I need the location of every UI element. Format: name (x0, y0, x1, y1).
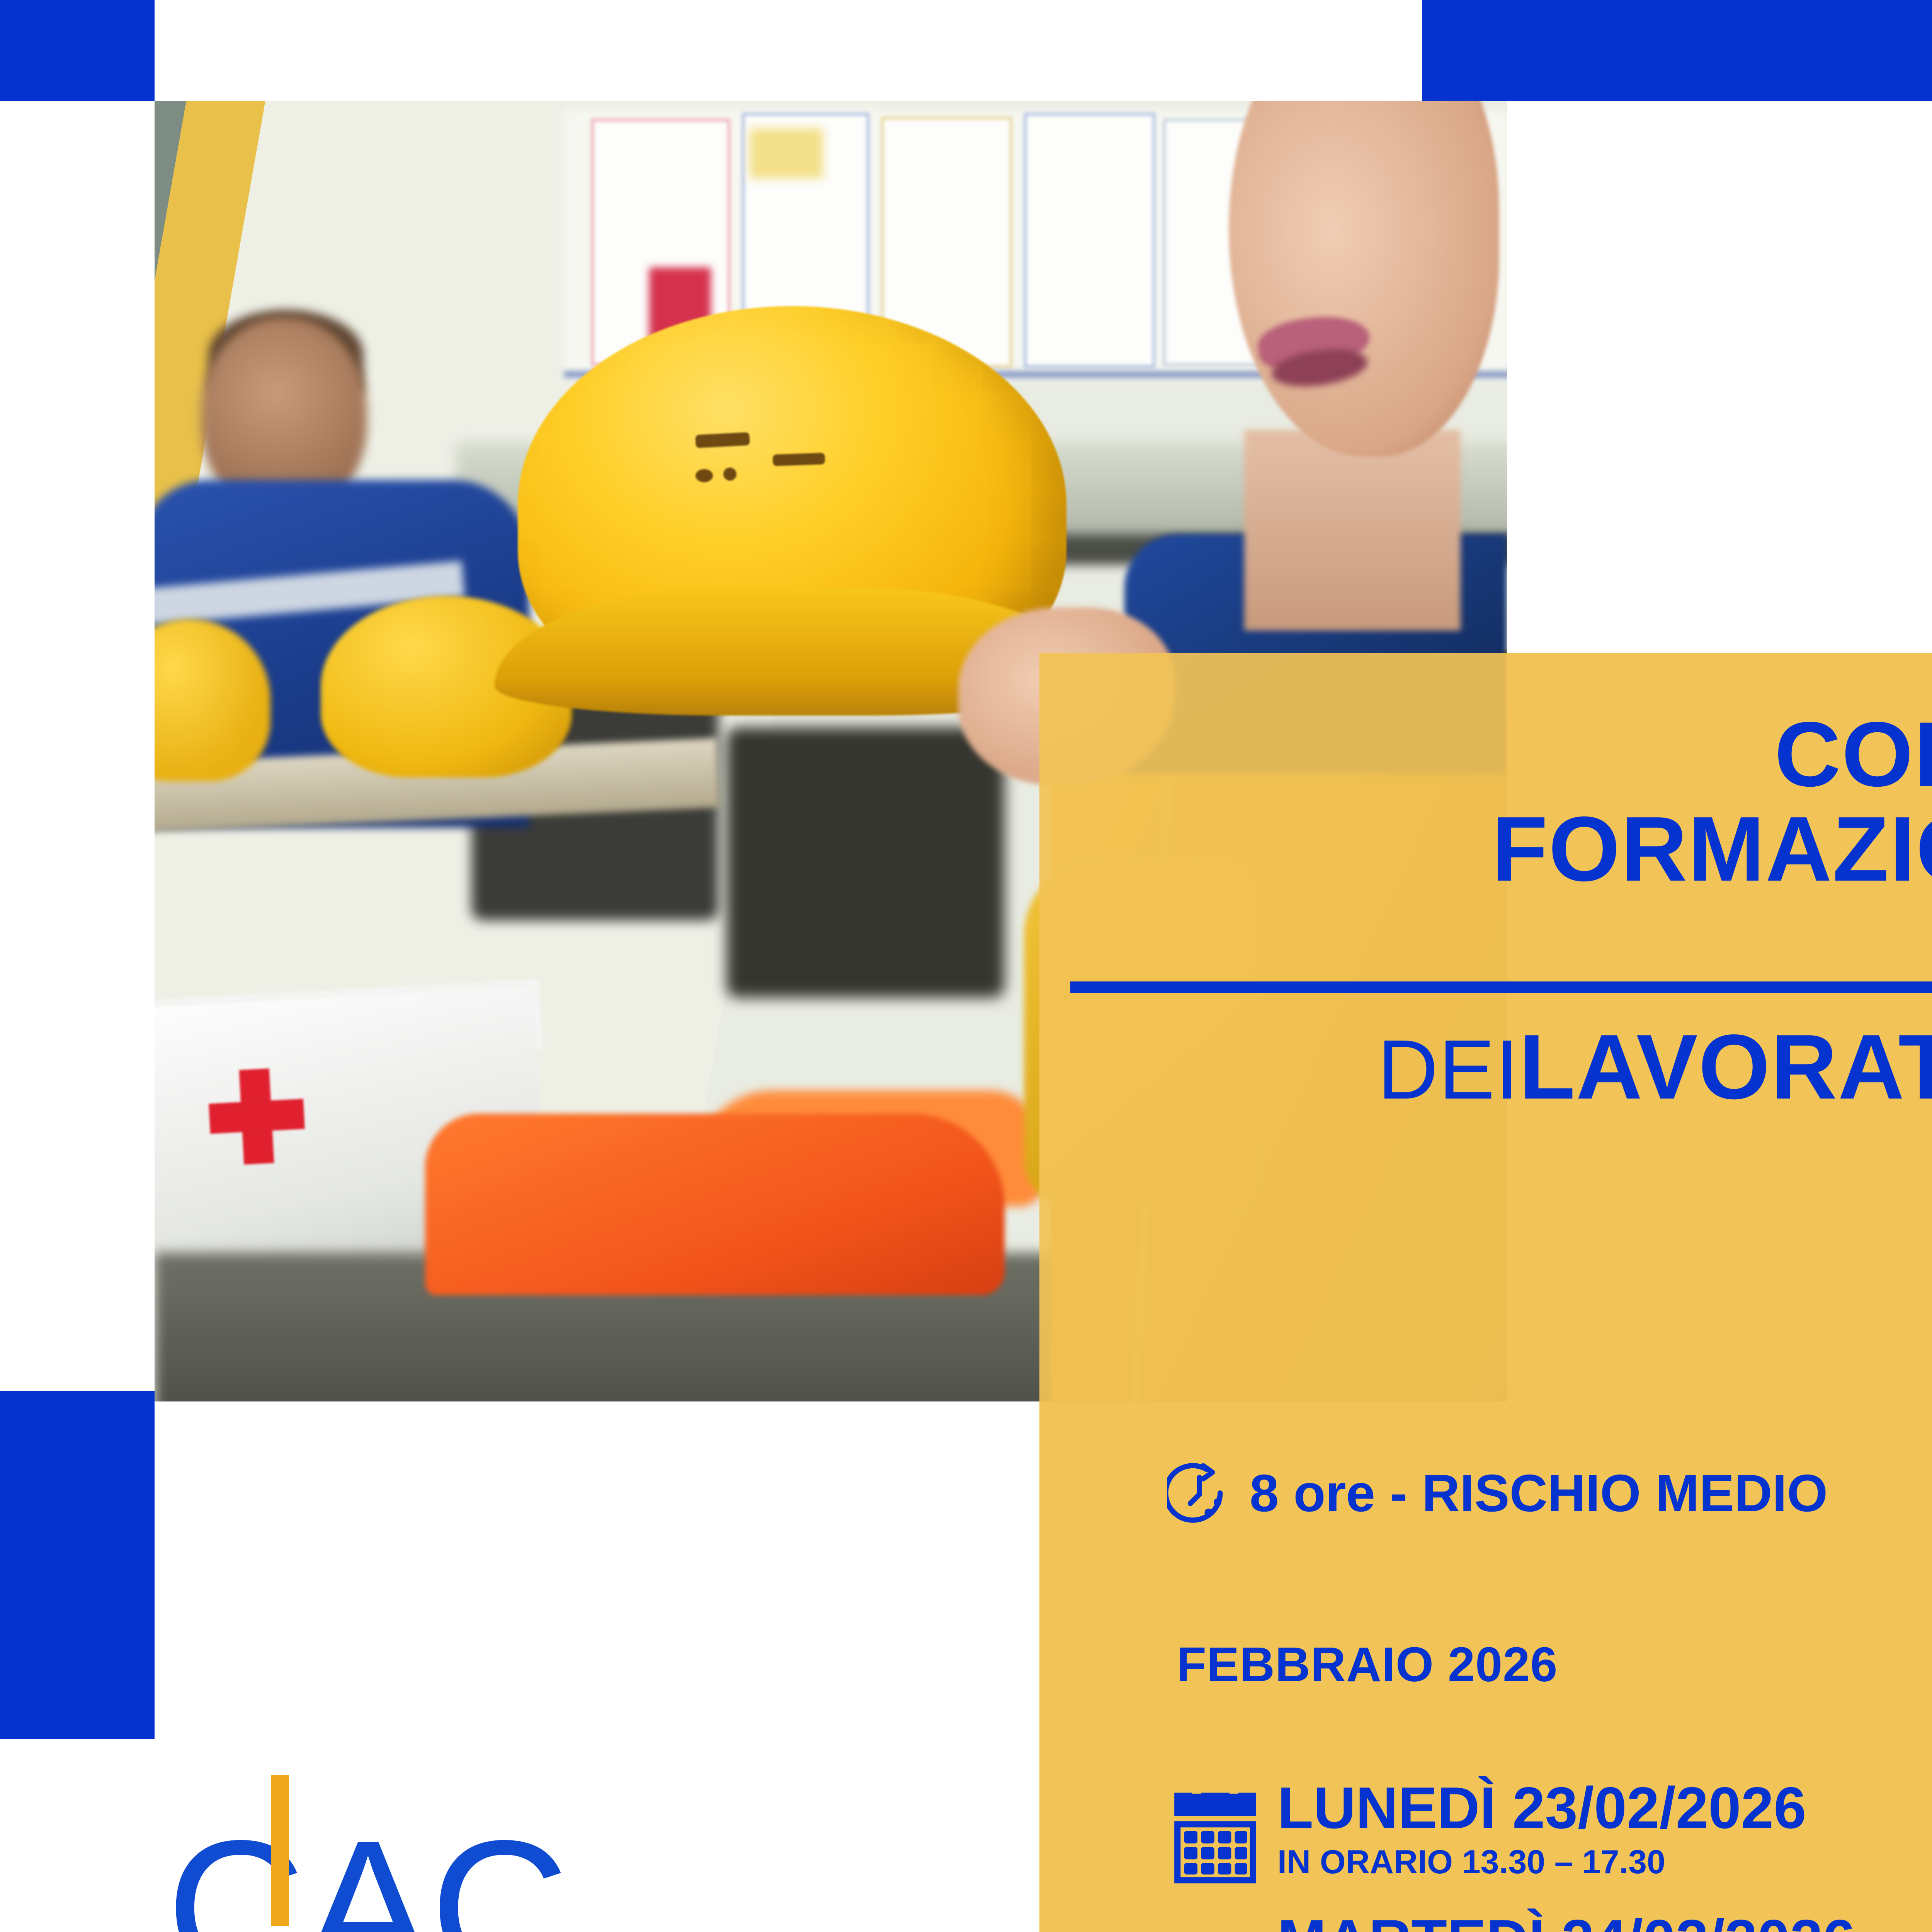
clock-icon (1167, 1461, 1232, 1526)
poster-canvas: CORSO FORMAZIONE DEILAVORATORI 8 ore - R… (0, 0, 1932, 1932)
schedule-sessions: LUNEDÌ 23/02/2026 IN ORARIO 13.30 – 17.3… (1171, 1777, 1855, 1932)
title-line-formazione: FORMAZIONE (1070, 802, 1932, 896)
session-day: MARTEDÌ 24/02/2026 (1277, 1910, 1855, 1932)
photo-poster-accent (750, 128, 823, 179)
title-line-lavoratori: DEILAVORATORI (1005, 1014, 1932, 1120)
title-divider-rule (1070, 981, 1932, 993)
photo-hardhat-vent (773, 453, 825, 466)
logo-letters-ac: AC (303, 1816, 567, 1932)
session-day: LUNEDÌ 23/02/2026 (1277, 1777, 1855, 1839)
brand-block: C AC Rivarolo C.se Corso Re Arduino,50 (166, 1816, 787, 1932)
ciac-logo: C AC (166, 1816, 787, 1932)
photo-hi-vis-vest (425, 1114, 1005, 1295)
photo-chair (726, 727, 1005, 998)
photo-worker-neck (1244, 430, 1461, 631)
decor-block-top-left (0, 0, 155, 101)
schedule-month: FEBBRAIO 2026 (1177, 1636, 1558, 1692)
decor-block-left (0, 1391, 155, 1739)
logo-orange-bar-icon (271, 1775, 289, 1926)
decor-block-top-right (1422, 0, 1932, 101)
title-word-lavoratori: LAVORATORI (1519, 1016, 1932, 1118)
session-list: LUNEDÌ 23/02/2026 IN ORARIO 13.30 – 17.3… (1277, 1777, 1855, 1932)
title-line-corso: CORSO (1070, 707, 1932, 802)
course-duration-text: 8 ore - RISCHIO MEDIO (1250, 1463, 1828, 1523)
course-duration-row: 8 ore - RISCHIO MEDIO (1167, 1461, 1828, 1526)
photo-red-cross-icon (209, 1099, 305, 1134)
calendar-icon (1171, 1785, 1260, 1886)
photo-hardhat-vent (696, 469, 713, 482)
page-title: CORSO FORMAZIONE (1070, 707, 1932, 896)
photo-poster-sheet (1024, 113, 1155, 368)
title-word-dei: DEI (1378, 1023, 1519, 1117)
session-time: IN ORARIO 13.30 – 17.30 (1277, 1842, 1855, 1883)
photo-hardhat-vent (723, 468, 736, 481)
session-spacer (1277, 1883, 1855, 1910)
